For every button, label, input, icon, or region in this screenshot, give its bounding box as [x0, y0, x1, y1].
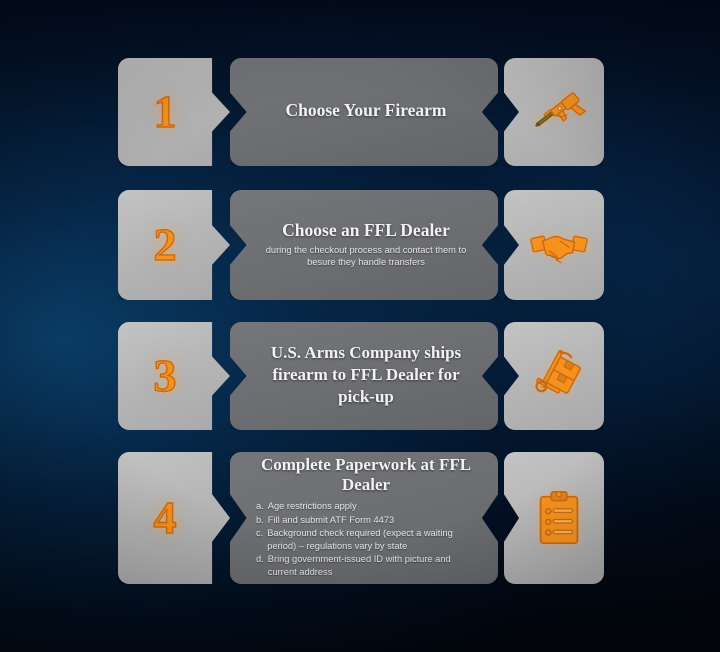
- step-title-3: U.S. Arms Company ships firearm to FFL D…: [256, 342, 476, 408]
- process-step-4: 4 Complete Paperwork at FFL Dealer a. Ag…: [118, 452, 604, 584]
- step-number-inner-2: 2: [118, 190, 212, 300]
- step-number-3: 3: [154, 353, 177, 399]
- clipboard-icon: [528, 487, 590, 549]
- list-item: a. Age restrictions apply: [256, 500, 476, 513]
- step-number-panel-1: 1: [118, 58, 230, 166]
- step-number-inner-1: 1: [118, 58, 212, 166]
- step-title-panel-4: Complete Paperwork at FFL Dealer a. Age …: [230, 452, 498, 584]
- step-number-inner-4: 4: [118, 452, 212, 584]
- process-step-1: 1 Choose Your Firearm: [118, 58, 604, 166]
- step-icon-panel-3: [504, 322, 604, 430]
- handshake-icon: [528, 214, 590, 276]
- step-subtitle-2: during the checkout process and contact …: [256, 244, 476, 269]
- bullet-text: Age restrictions apply: [268, 500, 476, 513]
- step-number-panel-3: 3: [118, 322, 230, 430]
- step-number-4: 4: [154, 495, 177, 541]
- step-title-panel-3: U.S. Arms Company ships firearm to FFL D…: [230, 322, 498, 430]
- step-icon-panel-1: [504, 58, 604, 166]
- step-bullet-list-4: a. Age restrictions apply b. Fill and su…: [256, 500, 476, 579]
- bullet-marker: b.: [256, 514, 264, 527]
- process-step-2: 2 Choose an FFL Dealer during the checko…: [118, 190, 604, 300]
- process-step-3: 3 U.S. Arms Company ships firearm to FFL…: [118, 322, 604, 430]
- bullet-marker: d.: [256, 553, 264, 579]
- step-title-panel-1: Choose Your Firearm: [230, 58, 498, 166]
- bullet-text: Bring government-issued ID with picture …: [268, 553, 476, 579]
- bullet-text: Background check required (expect a wait…: [267, 527, 476, 553]
- hand-truck-icon: [528, 345, 590, 407]
- bullet-marker: c.: [256, 527, 263, 553]
- step-number-panel-2: 2: [118, 190, 230, 300]
- list-item: d. Bring government-issued ID with pictu…: [256, 553, 476, 579]
- bullet-marker: a.: [256, 500, 264, 513]
- step-title-1: Choose Your Firearm: [285, 100, 446, 121]
- infographic-canvas: 1 Choose Your Firearm: [0, 0, 720, 652]
- rifle-icon: [528, 81, 590, 143]
- bullet-text: Fill and submit ATF Form 4473: [268, 514, 476, 527]
- list-item: b. Fill and submit ATF Form 4473: [256, 514, 476, 527]
- step-title-panel-2: Choose an FFL Dealer during the checkout…: [230, 190, 498, 300]
- step-number-2: 2: [154, 222, 177, 268]
- process-step-list: 1 Choose Your Firearm: [0, 0, 720, 652]
- step-number-1: 1: [154, 89, 177, 135]
- step-icon-panel-2: [504, 190, 604, 300]
- list-item: c. Background check required (expect a w…: [256, 527, 476, 553]
- step-icon-panel-4: [504, 452, 604, 584]
- step-number-panel-4: 4: [118, 452, 230, 584]
- step-number-inner-3: 3: [118, 322, 212, 430]
- step-title-2: Choose an FFL Dealer: [282, 220, 450, 241]
- step-title-4: Complete Paperwork at FFL Dealer: [256, 455, 476, 496]
